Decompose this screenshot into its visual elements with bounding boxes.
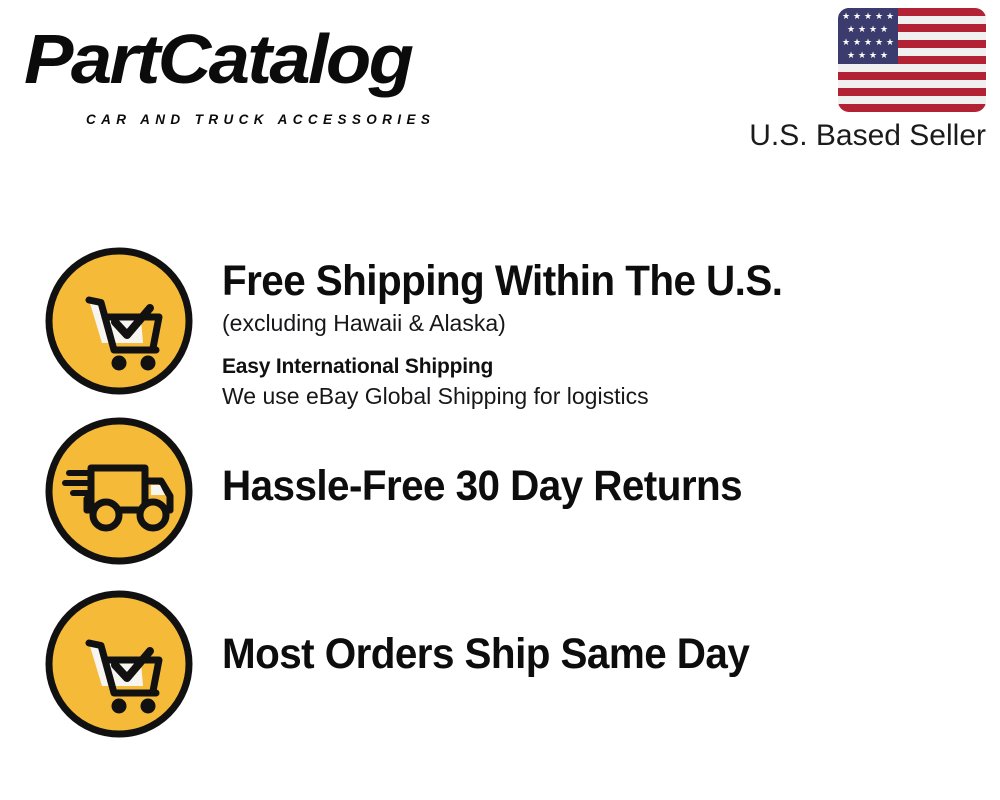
shopping-cart-check-icon	[43, 245, 195, 397]
page-header: PartCatalog CAR AND TRUCK ACCESSORIES ★ …	[0, 0, 1000, 170]
us-flag-icon: ★ ★ ★ ★ ★ ★ ★ ★ ★ ★ ★ ★ ★ ★ ★ ★ ★ ★	[838, 8, 986, 112]
feature-subtitle-strong: Easy International Shipping	[222, 352, 992, 381]
brand-tagline: CAR AND TRUCK ACCESSORIES	[86, 112, 435, 127]
us-based-seller-badge: ★ ★ ★ ★ ★ ★ ★ ★ ★ ★ ★ ★ ★ ★ ★ ★ ★ ★ U.S.…	[706, 8, 986, 154]
feature-title: Free Shipping Within The U.S.	[222, 257, 946, 306]
delivery-truck-icon	[43, 415, 195, 567]
feature-text-block: Hassle-Free 30 Day Returns	[222, 462, 992, 511]
feature-subtitle: (excluding Hawaii & Alaska)	[222, 308, 992, 338]
brand-logo[interactable]: PartCatalog CAR AND TRUCK ACCESSORIES	[24, 22, 494, 117]
feature-subtitle-secondary: We use eBay Global Shipping for logistic…	[222, 381, 992, 411]
feature-text-block: Most Orders Ship Same Day	[222, 630, 992, 679]
feature-title: Hassle-Free 30 Day Returns	[222, 462, 946, 511]
feature-title: Most Orders Ship Same Day	[222, 630, 946, 679]
flag-canton: ★ ★ ★ ★ ★ ★ ★ ★ ★ ★ ★ ★ ★ ★ ★ ★ ★ ★	[838, 8, 898, 64]
us-based-seller-label: U.S. Based Seller	[706, 118, 986, 154]
brand-wordmark: PartCatalog	[24, 22, 411, 96]
feature-text-block: Free Shipping Within The U.S. (excluding…	[222, 257, 992, 411]
shopping-cart-check-icon	[43, 588, 195, 740]
